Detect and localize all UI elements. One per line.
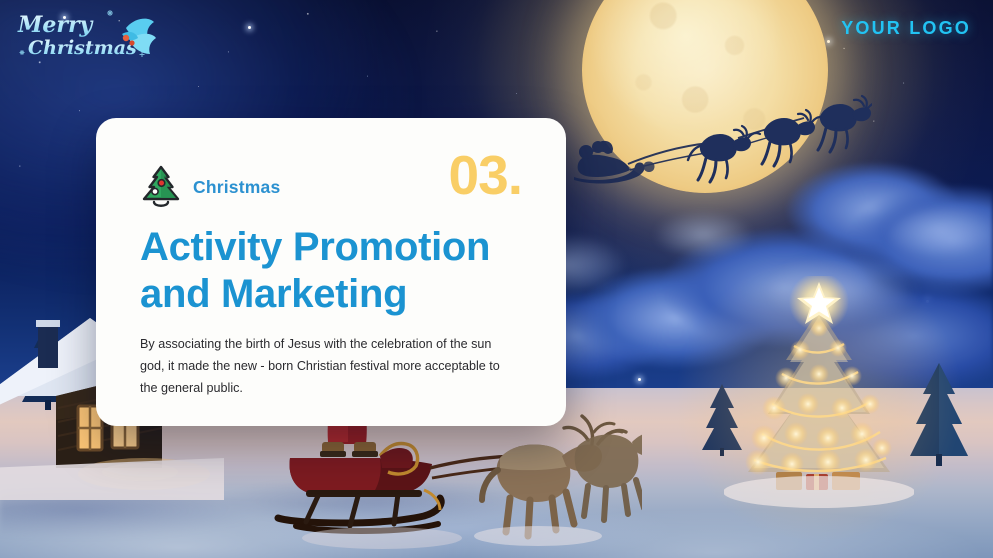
- christmas-tree-icon: [140, 164, 182, 210]
- page-title: Activity Promotion and Marketing: [140, 224, 528, 318]
- headline-line-2: and Marketing: [140, 271, 528, 318]
- merry-christmas-logo: Merry Christmas: [12, 6, 162, 64]
- bright-star: [248, 26, 251, 29]
- content-card: Christmas 03. Activity Promotion and Mar…: [96, 118, 566, 426]
- lit-christmas-tree: [724, 276, 914, 538]
- category-tag: Christmas: [140, 152, 280, 210]
- your-logo-text[interactable]: YOUR LOGO: [841, 18, 971, 39]
- step-number: 03.: [449, 148, 528, 203]
- card-header: Christmas 03.: [140, 152, 528, 210]
- body-text: By associating the birth of Jesus with t…: [140, 334, 512, 400]
- merry-christmas-line2: Christmas: [28, 37, 137, 59]
- category-label: Christmas: [193, 177, 280, 198]
- slide-root: Merry Christmas YOUR LOGO: [0, 0, 993, 558]
- headline-line-1: Activity Promotion: [140, 224, 528, 271]
- merry-christmas-line1: Merry: [17, 12, 95, 38]
